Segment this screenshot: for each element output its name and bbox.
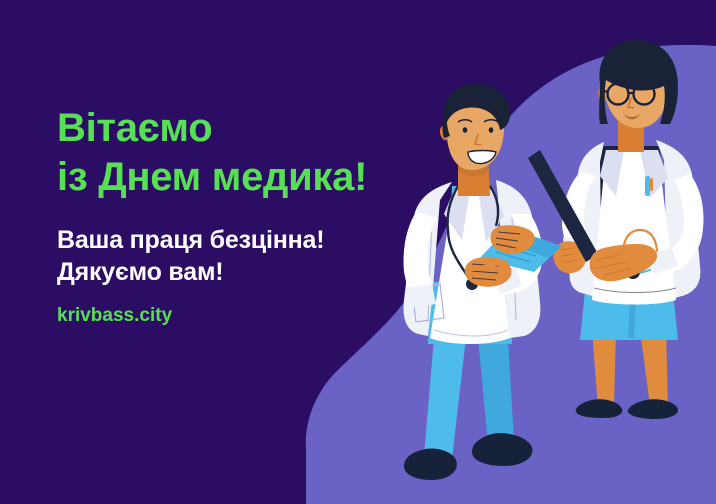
female-shoe-right <box>628 399 678 419</box>
greeting-banner: Вітаємо із Днем медика! Ваша праця безці… <box>0 0 716 504</box>
page-subheading: Ваша праця безцінна! Дякуємо вам! <box>57 224 457 288</box>
female-shoe-left <box>576 399 623 418</box>
male-eye-left <box>463 127 468 133</box>
male-shoe-left <box>404 448 457 480</box>
female-doctor-figure <box>528 40 704 419</box>
page-headline: Вітаємо із Днем медика! <box>57 104 447 202</box>
site-url-link[interactable]: krivbass.city <box>57 305 172 327</box>
female-coat-pen <box>645 176 650 196</box>
female-leg-right <box>640 330 668 406</box>
female-coat-pen-clip <box>650 178 653 191</box>
female-leg-left <box>592 330 616 408</box>
male-eye-right <box>489 127 494 133</box>
